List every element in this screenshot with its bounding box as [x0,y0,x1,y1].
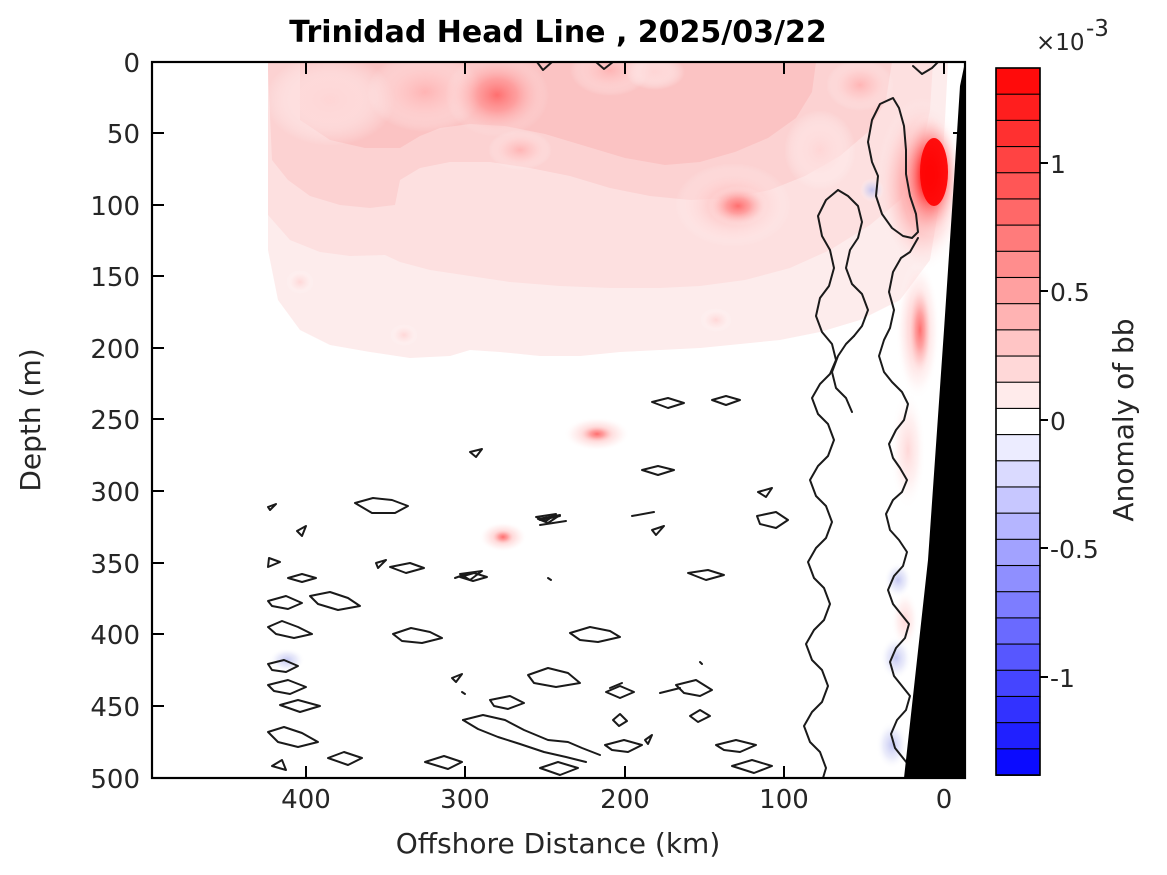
colorbar-tick-label-1: 0.5 [1050,278,1090,307]
x-tick-label-1: 300 [440,785,490,815]
y-tick-label-2: 100 [90,192,140,222]
colorbar-tick-label-4: -1 [1050,664,1075,693]
y-tick-label-6: 300 [90,478,140,508]
colorbar-cell[interactable] [996,356,1040,383]
colorbar-cell[interactable] [996,566,1040,593]
y-tick-label-4: 200 [90,335,140,365]
core-blob-7b [708,186,768,226]
colorbar-exponent-sup: -3 [1086,16,1109,42]
midwater-blob-260m-core [579,425,615,443]
colorbar-cell[interactable] [996,251,1040,278]
offshore-negative-1 [269,648,305,672]
colorbar-cell[interactable] [996,487,1040,514]
y-tick-label-1: 50 [107,120,140,150]
y-tick-label-7: 350 [90,550,140,580]
contour-loop-az [700,662,702,664]
no-data-region-offshore [152,62,268,778]
x-tick-label-3: 100 [759,785,809,815]
colorbar-tick-label-2: 0 [1050,407,1066,436]
plot-data-area [152,44,968,778]
page-title: Trinidad Head Line , 2025/03/22 [289,15,826,50]
colorbar-exponent-base: ×10 [1036,30,1085,56]
colorbar-cell[interactable] [996,120,1040,147]
x-axis-label: Offshore Distance (km) [396,827,721,860]
colorbar-cell[interactable] [996,618,1040,645]
x-tick-label-4: 0 [936,785,953,815]
colorbar-cell[interactable] [996,147,1040,174]
y-tick-label-10: 500 [90,765,140,795]
y-tick-label-8: 400 [90,621,140,651]
colorbar-cell[interactable] [996,461,1040,488]
colorbar-cell[interactable] [996,225,1040,252]
y-axis-label: Depth (m) [14,348,47,491]
colorbar-cell[interactable] [996,723,1040,750]
midwater-blob-330m-core [491,529,515,545]
colorbar-cell[interactable] [996,382,1040,409]
core-blob-4 [488,130,552,170]
surface-anomaly-field [265,44,948,358]
colorbar-cell[interactable] [996,539,1040,566]
colorbar-cell[interactable] [996,696,1040,723]
colorbar-cell[interactable] [996,330,1040,357]
core-blob-8 [784,110,856,190]
figure-container: 400 300 200 100 0 0 50 100 150 200 250 3… [0,0,1167,875]
colorbar-cell[interactable] [996,199,1040,226]
colorbar-cells[interactable] [996,68,1040,775]
colorbar-cell[interactable] [996,94,1040,121]
colorbar-cell[interactable] [996,277,1040,304]
core-blob-11 [390,324,418,346]
core-blob-12 [700,308,732,332]
offshore-negative-2 [860,178,884,202]
y-tick-label-9: 450 [90,693,140,723]
colorbar-cell[interactable] [996,513,1040,540]
colorbar-label: Anomaly of bb [1107,318,1140,521]
y-tick-label-3: 150 [90,263,140,293]
core-blob-3-max-surface [445,53,549,137]
colorbar-cell[interactable] [996,173,1040,200]
y-tick-label-5: 250 [90,406,140,436]
colorbar-tick-label-3: -0.5 [1050,535,1099,564]
colorbar-cell[interactable] [996,304,1040,331]
x-tick-label-0: 400 [281,785,331,815]
colorbar-tick-label-0: 1 [1050,150,1066,179]
colorbar-cell[interactable] [996,670,1040,697]
colorbar-cell[interactable] [996,408,1040,435]
y-tick-label-0: 0 [123,49,140,79]
contour-figure: 400 300 200 100 0 0 50 100 150 200 250 3… [0,0,1167,875]
colorbar-cell[interactable] [996,435,1040,462]
core-blob-10 [286,270,314,294]
x-tick-label-2: 200 [600,785,650,815]
colorbar-cell[interactable] [996,592,1040,619]
colorbar-cell[interactable] [996,749,1040,776]
colorbar-cell[interactable] [996,644,1040,671]
colorbar-cell[interactable] [996,68,1040,95]
